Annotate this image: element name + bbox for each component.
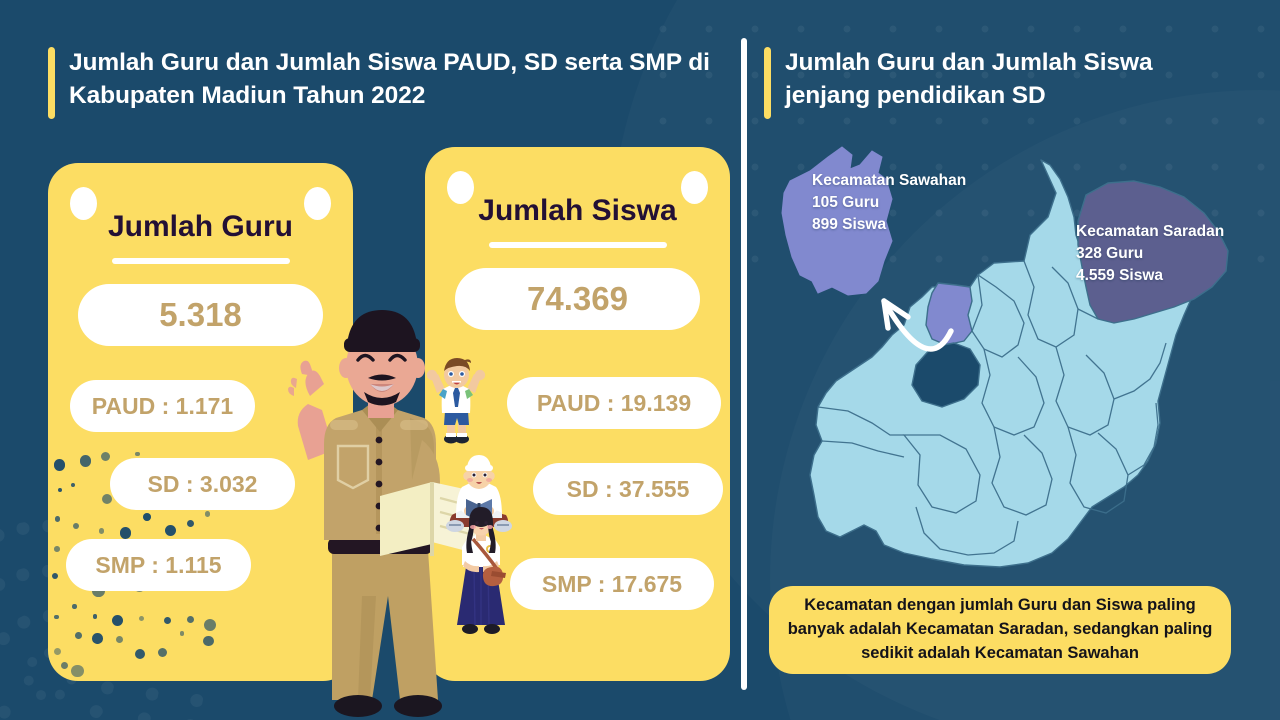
- map-label-saradan-students: 4.559 Siswa: [1076, 265, 1224, 287]
- breakdown-pill-smp: SMP : 17.675: [510, 558, 714, 610]
- breakdown-pill-paud: PAUD : 19.139: [507, 377, 721, 429]
- map-label-saradan-name: Kecamatan Saradan: [1076, 221, 1224, 243]
- map-label-saradan: Kecamatan Saradan 328 Guru 4.559 Siswa: [1076, 221, 1224, 287]
- card-total-value: 74.369: [455, 268, 700, 330]
- infographic-canvas: Jumlah Guru dan Jumlah Siswa PAUD, SD se…: [0, 0, 1280, 720]
- card-heading: Jumlah Guru: [48, 210, 353, 244]
- map-label-sawahan-name: Kecamatan Sawahan: [812, 170, 966, 192]
- map-label-sawahan: Kecamatan Sawahan 105 Guru 899 Siswa: [812, 170, 966, 236]
- panel-divider: [741, 38, 747, 690]
- accent-bar-left: [48, 47, 55, 119]
- summary-note-text: Kecamatan dengan jumlah Guru dan Siswa p…: [785, 594, 1215, 666]
- accent-bar-right: [764, 47, 771, 119]
- map-label-saradan-teachers: 328 Guru: [1076, 243, 1224, 265]
- card-total-value: 5.318: [78, 284, 323, 346]
- left-panel-header: Jumlah Guru dan Jumlah Siswa PAUD, SD se…: [48, 47, 718, 119]
- left-panel-title: Jumlah Guru dan Jumlah Siswa PAUD, SD se…: [69, 47, 718, 112]
- madiun-district-map: Kecamatan Sawahan 105 Guru 899 Siswa Kec…: [756, 135, 1266, 575]
- card-divider-rule: [112, 258, 290, 264]
- stat-card-jumlah-siswa: Jumlah Siswa 74.369 PAUD : 19.139 SD : 3…: [425, 147, 730, 681]
- map-label-sawahan-students: 899 Siswa: [812, 214, 966, 236]
- summary-note-box: Kecamatan dengan jumlah Guru dan Siswa p…: [769, 586, 1231, 674]
- card-divider-rule: [489, 242, 667, 248]
- stat-card-jumlah-guru: Jumlah Guru 5.318 PAUD : 1.171 SD : 3.03…: [48, 163, 353, 681]
- breakdown-pill-sd: SD : 3.032: [110, 458, 295, 510]
- breakdown-pill-sd: SD : 37.555: [533, 463, 723, 515]
- breakdown-pill-smp: SMP : 1.115: [66, 539, 251, 591]
- breakdown-pill-paud: PAUD : 1.171: [70, 380, 255, 432]
- card-heading: Jumlah Siswa: [425, 194, 730, 228]
- right-panel-title: Jumlah Guru dan Jumlah Siswa jenjang pen…: [785, 47, 1234, 112]
- right-panel-header: Jumlah Guru dan Jumlah Siswa jenjang pen…: [764, 47, 1234, 119]
- map-label-sawahan-teachers: 105 Guru: [812, 192, 966, 214]
